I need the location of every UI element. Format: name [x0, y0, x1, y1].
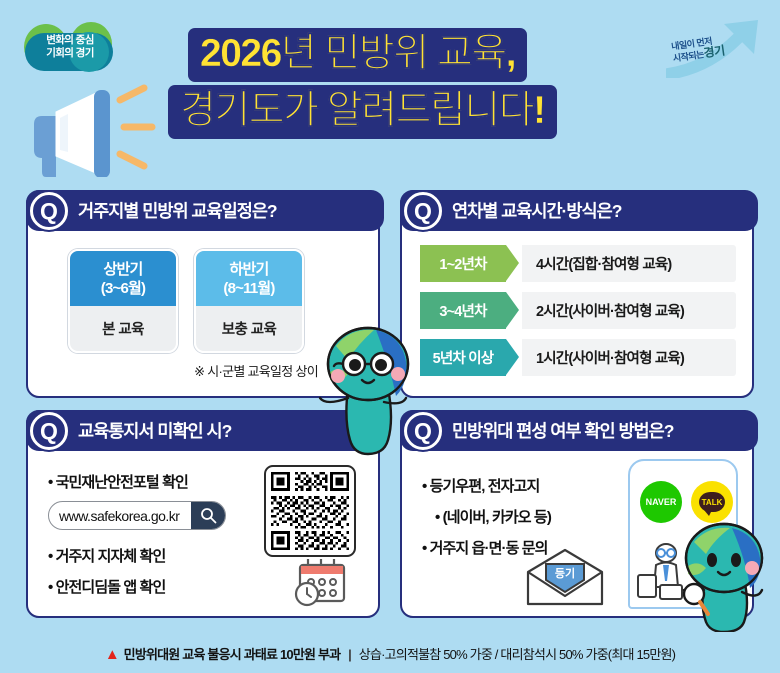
- mascot-character-magnifier-icon: [674, 520, 770, 632]
- schedule-period-name: 상반기: [103, 260, 142, 279]
- card-body: 국민재난안전포털 확인 www.safekorea.go.kr 거주지 지자체 …: [28, 453, 378, 616]
- kakaotalk-app-icon[interactable]: TALK: [691, 481, 733, 523]
- bullet-list-secondary: 거주지 지자체 확인 안전디딤돌 앱 확인: [48, 545, 165, 607]
- year-row-list: 1~2년차 4시간(집합·참여형 교육) 3~4년차 2시간(사이버·참여형 교…: [420, 245, 736, 376]
- schedule-period-months: (8~11월): [223, 279, 274, 298]
- schedule-period-header: 상반기 (3~6월): [70, 251, 176, 306]
- year-tag: 3~4년차: [420, 292, 506, 329]
- page-title-line1: 2026년 민방위 교육,: [188, 28, 527, 82]
- page-title: 2026년 민방위 교육, 경기도가 알려드립니다!: [168, 28, 668, 139]
- schedule-box-second-half: 하반기 (8~11월) 보충 교육: [194, 249, 304, 353]
- megaphone-icon: [20, 82, 160, 177]
- kakaotalk-bubble-icon: TALK: [699, 492, 725, 512]
- year-row: 3~4년차 2시간(사이버·참여형 교육): [420, 292, 736, 329]
- year-row: 1~2년차 4시간(집합·참여형 교육): [420, 245, 736, 282]
- year-tag-label: 3~4년차: [439, 300, 486, 321]
- portal-url-search-box[interactable]: www.safekorea.go.kr: [48, 501, 226, 530]
- question-badge-icon: Q: [30, 192, 68, 230]
- mascot-character-pointing-icon: [314, 322, 418, 458]
- calendar-clock-icon: [290, 556, 352, 608]
- schedule-note: ※ 시·군별 교육일정 상이: [28, 361, 318, 380]
- card-header: Q 연차별 교육시간·방식은?: [400, 190, 758, 231]
- year-description: 4시간(집합·참여형 교육): [522, 245, 736, 282]
- bullet-item: 거주지 지자체 확인: [48, 545, 165, 566]
- schedule-type-label: 본 교육: [70, 306, 176, 351]
- year-tag: 1~2년차: [420, 245, 506, 282]
- card-title: 거주지별 민방위 교육일정은?: [78, 198, 277, 223]
- kakaotalk-app-label: TALK: [702, 498, 723, 507]
- footer-notice: ▲ 민방위대원 교육 불응시 과태료 10만원 부과 | 상습·고의적불참 50…: [0, 644, 780, 663]
- bullet-item: 등기우편, 전자고지: [422, 475, 551, 496]
- slogan-highlight: 경기: [703, 43, 726, 60]
- card-header: Q 민방위대 편성 여부 확인 방법은?: [400, 410, 758, 451]
- faq-card-membership-check: Q 민방위대 편성 여부 확인 방법은? 등기우편, 전자고지 (네이버, 카카…: [400, 410, 754, 618]
- footer-tail-text: 상습·고의적불참 50% 가중 / 대리참석시 50% 가중(최대 15만원): [359, 647, 675, 662]
- question-badge-icon: Q: [404, 192, 442, 230]
- card-title: 연차별 교육시간·방식은?: [452, 198, 621, 223]
- naver-app-label: NAVER: [646, 497, 677, 507]
- warning-icon: ▲: [105, 646, 119, 663]
- year-tag-label: 1~2년차: [439, 253, 486, 274]
- slogan-badge: 내일이 먼저 시작되는경기: [666, 16, 770, 78]
- question-badge-icon: Q: [30, 412, 68, 450]
- footer-main-text: 민방위대원 교육 불응시 과태료 10만원 부과: [124, 647, 341, 662]
- bullet-item: 안전디딤돌 앱 확인: [48, 576, 165, 597]
- schedule-period-name: 하반기: [229, 260, 268, 279]
- schedule-period-header: 하반기 (8~11월): [196, 251, 302, 306]
- page-title-line2: 경기도가 알려드립니다!: [168, 85, 557, 139]
- card-header: Q 거주지별 민방위 교육일정은?: [26, 190, 384, 231]
- faq-card-grid: Q 거주지별 민방위 교육일정은? 상반기 (3~6월) 본 교육 하반기 (8…: [26, 190, 754, 618]
- qr-code-icon[interactable]: [264, 465, 356, 557]
- card-title: 교육통지서 미확인 시?: [78, 418, 231, 443]
- brand-logo-text: 변화의 중심 기회의 경기: [22, 34, 118, 60]
- faq-card-training-hours: Q 연차별 교육시간·방식은? 1~2년차 4시간(집합·참여형 교육) 3~4…: [400, 190, 754, 398]
- card-body: 1~2년차 4시간(집합·참여형 교육) 3~4년차 2시간(사이버·참여형 교…: [402, 233, 752, 396]
- bullet-list: 국민재난안전포털 확인: [48, 471, 188, 502]
- naver-app-icon[interactable]: NAVER: [640, 481, 682, 523]
- app-icon-row: NAVER TALK: [640, 481, 733, 523]
- search-icon[interactable]: [191, 502, 225, 529]
- schedule-box-first-half: 상반기 (3~6월) 본 교육: [68, 249, 178, 353]
- envelope-label: 등기: [555, 566, 575, 580]
- card-title: 민방위대 편성 여부 확인 방법은?: [452, 418, 673, 443]
- page-header: 변화의 중심 기회의 경기 2026년 민방위 교육, 경기도가 알려드: [0, 0, 780, 182]
- brand-logo-line2: 기회의 경기: [22, 47, 118, 60]
- brand-logo-line1: 변화의 중심: [22, 34, 118, 47]
- footer-separator: |: [348, 647, 351, 662]
- card-body: 등기우편, 전자고지 (네이버, 카카오 등) 거주지 읍·면·동 문의 NAV…: [402, 453, 752, 616]
- schedule-period-months: (3~6월): [101, 279, 145, 298]
- year-description: 1시간(사이버·참여형 교육): [522, 339, 736, 376]
- bullet-item-continuation-text: (네이버, 카카오 등): [443, 509, 551, 526]
- schedule-type-label: 보충 교육: [196, 306, 302, 351]
- year-tag-label: 5년차 이상: [433, 347, 494, 368]
- year-row: 5년차 이상 1시간(사이버·참여형 교육): [420, 339, 736, 376]
- gyeonggi-brand-logo: 변화의 중심 기회의 경기: [22, 20, 118, 78]
- portal-url-text[interactable]: www.safekorea.go.kr: [49, 502, 191, 529]
- bullet-item: 국민재난안전포털 확인: [48, 471, 188, 492]
- registered-mail-envelope-icon: 등기: [522, 546, 608, 608]
- bullet-item-continuation: (네이버, 카카오 등): [422, 506, 551, 527]
- schedule-box-row: 상반기 (3~6월) 본 교육 하반기 (8~11월) 보충 교육: [68, 249, 304, 353]
- year-tag: 5년차 이상: [420, 339, 506, 376]
- year-description: 2시간(사이버·참여형 교육): [522, 292, 736, 329]
- faq-card-schedule: Q 거주지별 민방위 교육일정은? 상반기 (3~6월) 본 교육 하반기 (8…: [26, 190, 380, 398]
